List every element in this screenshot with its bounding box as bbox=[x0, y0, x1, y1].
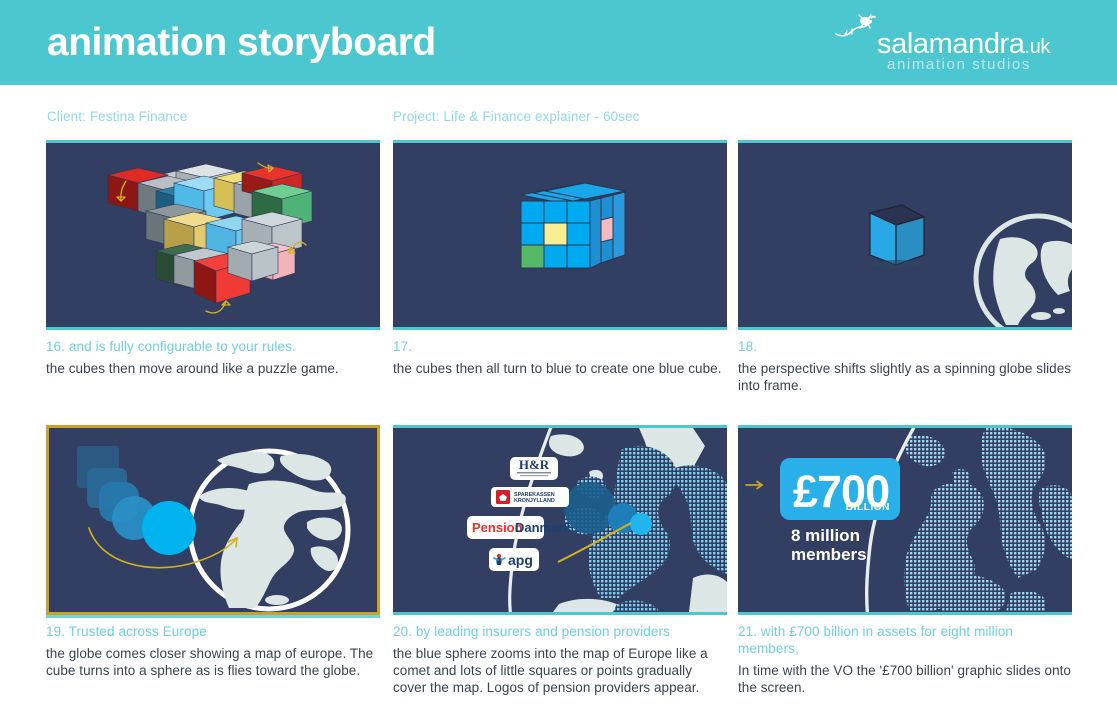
frame-19-image[interactable] bbox=[46, 425, 380, 615]
svg-text:apg: apg bbox=[508, 552, 533, 568]
frame-18-caption: 18. the perspective shifts slightly as a… bbox=[738, 330, 1072, 394]
caption-body: In time with the VO the '£700 billion' g… bbox=[738, 662, 1072, 696]
caption-body: the globe comes closer showing a map of … bbox=[46, 645, 380, 679]
svg-text:H&R: H&R bbox=[519, 457, 550, 472]
frame-20-caption: 20. by leading insurers and pension prov… bbox=[393, 615, 727, 696]
svg-text:8 million: 8 million bbox=[791, 526, 860, 545]
cube-with-globe-art bbox=[738, 143, 1072, 327]
caption-title: 16. and is fully configurable to your ru… bbox=[46, 338, 380, 355]
caption-title: 21. with £700 billion in assets for eigh… bbox=[738, 623, 1072, 657]
sphere-trail-globe-art bbox=[49, 428, 377, 612]
storyboard-cell: H&R SPAREKASSEN KRONJYLLAND bbox=[393, 425, 727, 696]
storyboard-cell: £700 BILLION 8 million members 21. with … bbox=[738, 425, 1072, 696]
frame-21-caption: 21. with £700 billion in assets for eigh… bbox=[738, 615, 1072, 696]
sparekassen-kronjylland-logo: SPAREKASSEN KRONJYLLAND bbox=[491, 487, 569, 507]
storyboard-page: animation storyboard salamandra.uk anima… bbox=[0, 0, 1117, 707]
storyboard-cell: 19. Trusted across Europe the globe come… bbox=[46, 425, 380, 679]
cube-cluster-exploded-art bbox=[46, 143, 380, 327]
europe-map-logos-art: H&R SPAREKASSEN KRONJYLLAND bbox=[393, 428, 727, 612]
caption-body: the perspective shifts slightly as a spi… bbox=[738, 360, 1072, 394]
storyboard-grid: 16. and is fully configurable to your ru… bbox=[0, 0, 1117, 707]
caption-title: 20. by leading insurers and pension prov… bbox=[393, 623, 727, 640]
svg-text:BILLION: BILLION bbox=[846, 502, 890, 513]
frame-19-caption: 19. Trusted across Europe the globe come… bbox=[46, 615, 380, 679]
frame-16-caption: 16. and is fully configurable to your ru… bbox=[46, 330, 380, 377]
svg-text:Danmark: Danmark bbox=[515, 520, 571, 535]
europe-map-stat-art: £700 BILLION 8 million members bbox=[738, 428, 1072, 612]
frame-18-image[interactable] bbox=[738, 140, 1072, 330]
caption-body: the blue sphere zooms into the map of Eu… bbox=[393, 645, 727, 696]
blue-rubiks-cube-art bbox=[393, 143, 727, 327]
caption-title: 17. bbox=[393, 338, 727, 355]
storyboard-cell: 18. the perspective shifts slightly as a… bbox=[738, 140, 1072, 394]
caption-body: the cubes then move around like a puzzle… bbox=[46, 360, 380, 377]
caption-title: 19. Trusted across Europe bbox=[46, 623, 380, 640]
caption-body: the cubes then all turn to blue to creat… bbox=[393, 360, 727, 377]
storyboard-cell: 17. the cubes then all turn to blue to c… bbox=[393, 140, 727, 377]
frame-16-image[interactable] bbox=[46, 140, 380, 330]
frame-21-image[interactable]: £700 BILLION 8 million members bbox=[738, 425, 1072, 615]
hr-logo: H&R bbox=[510, 457, 558, 480]
stat-card: £700 BILLION bbox=[780, 458, 900, 520]
svg-text:KRONJYLLAND: KRONJYLLAND bbox=[514, 498, 555, 504]
frame-20-image[interactable]: H&R SPAREKASSEN KRONJYLLAND bbox=[393, 425, 727, 615]
frame-17-image[interactable] bbox=[393, 140, 727, 330]
caption-title: 18. bbox=[738, 338, 1072, 355]
svg-text:members: members bbox=[791, 545, 867, 564]
frame-17-caption: 17. the cubes then all turn to blue to c… bbox=[393, 330, 727, 377]
storyboard-cell: 16. and is fully configurable to your ru… bbox=[46, 140, 380, 377]
apg-logo: apg bbox=[489, 548, 539, 571]
